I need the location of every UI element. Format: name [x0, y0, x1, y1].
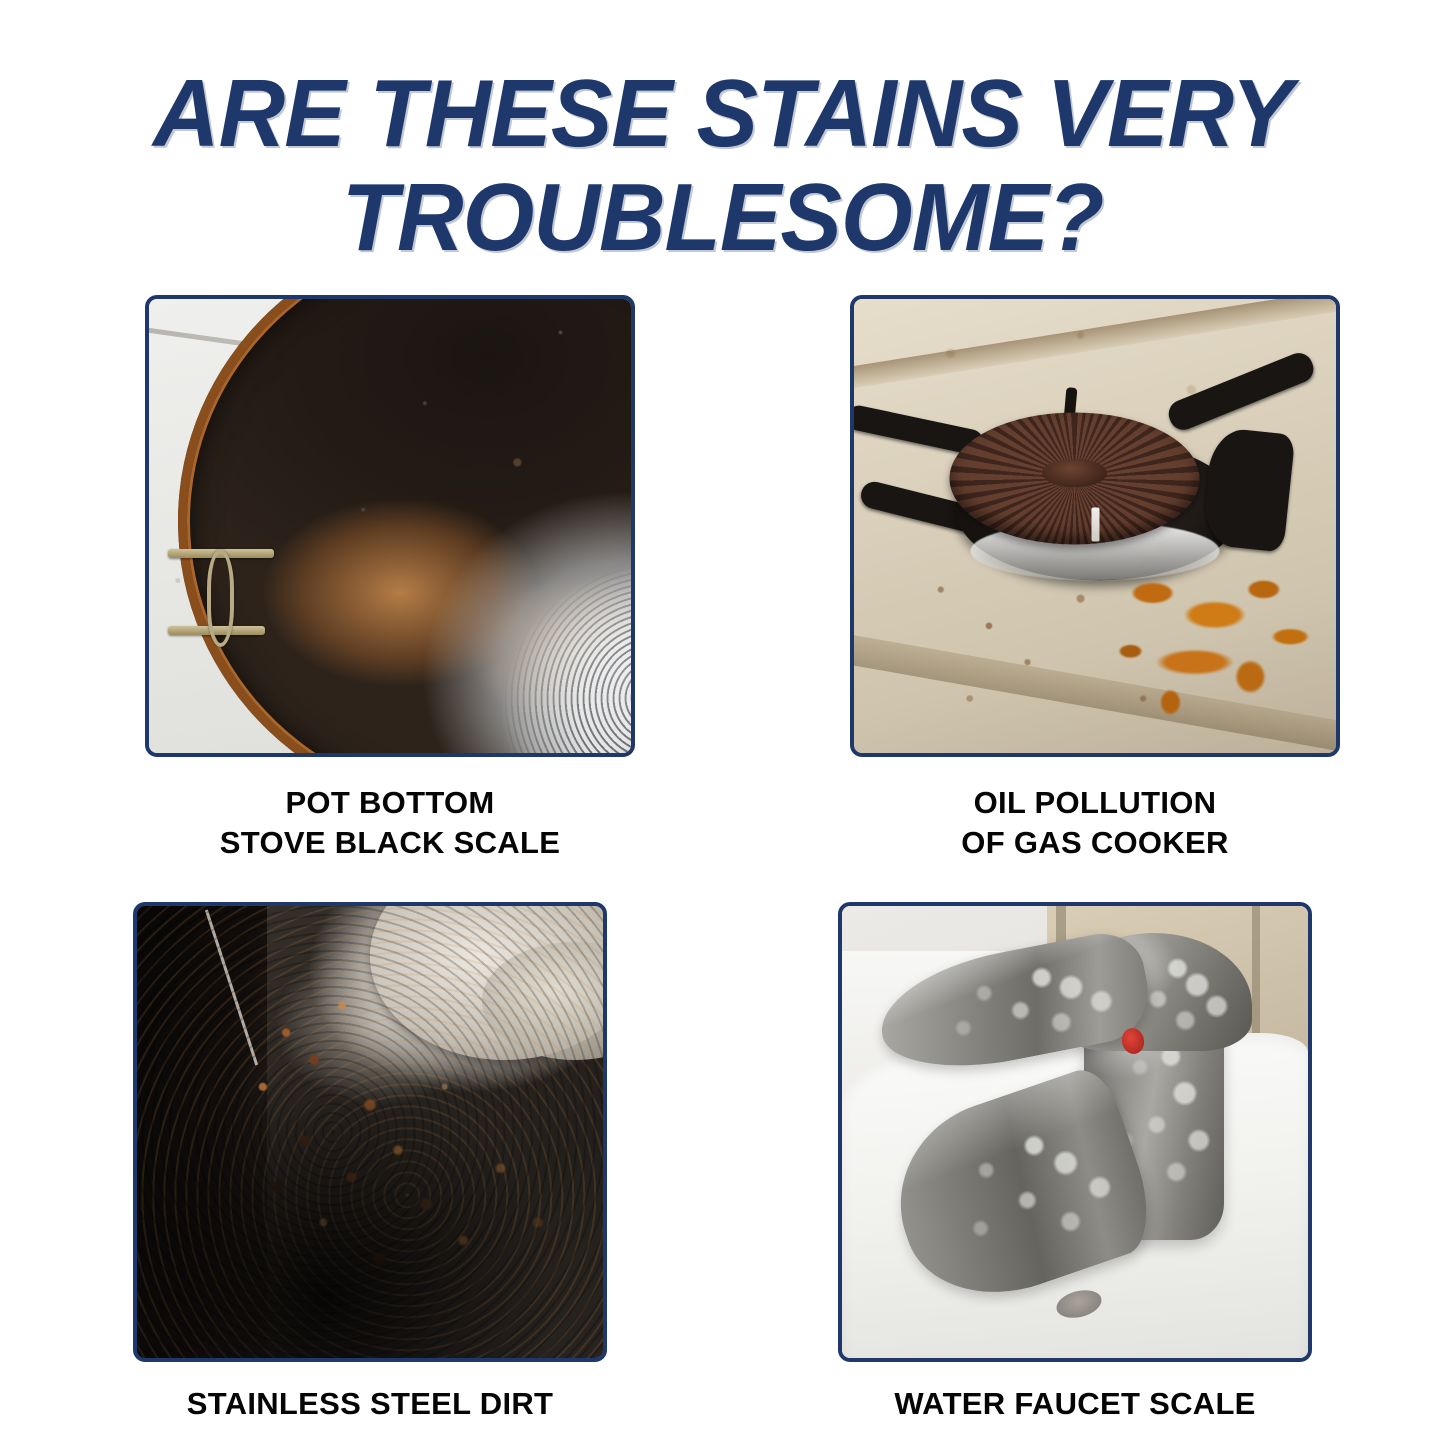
photo-frame-stainless-steel [133, 902, 607, 1362]
grimy-stainless-steel-photo [137, 906, 603, 1358]
caption-gas-cooker: OIL POLLUTION OF GAS COOKER [845, 783, 1345, 862]
photo-frame-faucet-scale [838, 902, 1312, 1362]
stain-card-pot-bottom: POT BOTTOM STOVE BLACK SCALE [140, 295, 640, 862]
stain-card-faucet-scale: WATER FAUCET SCALE [825, 902, 1325, 1424]
caption-stainless-steel: STAINLESS STEEL DIRT [120, 1384, 620, 1424]
stain-card-stainless-steel: STAINLESS STEEL DIRT [120, 902, 620, 1424]
photo-frame-gas-cooker [850, 295, 1340, 757]
page-title: ARE THESE STAINS VERY TROUBLESOME? [29, 62, 1416, 269]
limescale-faucet-photo [842, 906, 1308, 1358]
caption-pot-bottom: POT BOTTOM STOVE BLACK SCALE [140, 783, 640, 862]
stain-card-gas-cooker: OIL POLLUTION OF GAS COOKER [845, 295, 1345, 862]
greasy-gas-burner-photo [854, 299, 1336, 753]
burnt-wok-bottom-photo [149, 299, 631, 753]
photo-frame-pot-bottom [145, 295, 635, 757]
caption-faucet-scale: WATER FAUCET SCALE [825, 1384, 1325, 1424]
